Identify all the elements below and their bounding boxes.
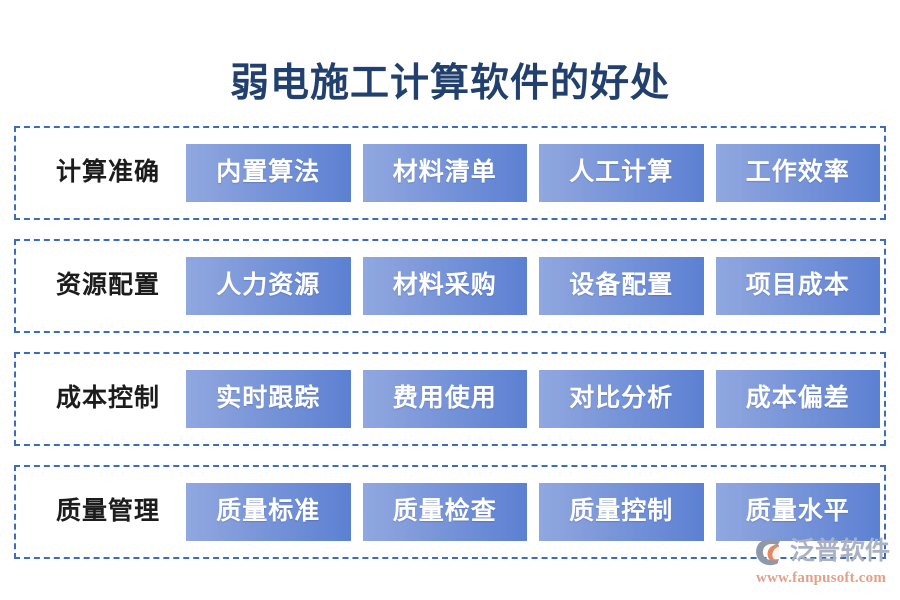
card-2-4[interactable]: 项目成本 — [716, 257, 881, 315]
title-container: 弱电施工计算软件的好处 — [0, 60, 900, 108]
category-rows: 计算准确 内置算法 材料清单 人工计算 工作效率 资源配置 人力资源 材料采购 … — [14, 126, 886, 559]
page-title: 弱电施工计算软件的好处 — [0, 60, 900, 108]
logo-website-url: www.fanpusoft.com — [754, 569, 888, 587]
card-3-4[interactable]: 成本偏差 — [716, 370, 881, 428]
row-label-2: 资源配置 — [30, 271, 186, 301]
row-label-1: 计算准确 — [30, 158, 186, 188]
card-3-1[interactable]: 实时跟踪 — [186, 370, 351, 428]
category-row-1: 计算准确 内置算法 材料清单 人工计算 工作效率 — [14, 126, 886, 220]
row-label-3: 成本控制 — [30, 384, 186, 414]
card-group-1: 内置算法 材料清单 人工计算 工作效率 — [186, 144, 884, 202]
card-1-2[interactable]: 材料清单 — [363, 144, 528, 202]
card-group-2: 人力资源 材料采购 设备配置 项目成本 — [186, 257, 884, 315]
card-3-2[interactable]: 费用使用 — [363, 370, 528, 428]
category-row-2: 资源配置 人力资源 材料采购 设备配置 项目成本 — [14, 239, 886, 333]
logo-company-name: 泛普软件 — [790, 537, 890, 567]
fanpu-circle-logo-icon — [754, 537, 786, 567]
category-row-3: 成本控制 实时跟踪 费用使用 对比分析 成本偏差 — [14, 352, 886, 446]
logo-top-row: 泛普软件 — [754, 536, 888, 568]
card-group-4: 质量标准 质量检查 质量控制 质量水平 — [186, 483, 884, 541]
brand-logo: 泛普软件 www.fanpusoft.com — [754, 536, 888, 588]
row-label-4: 质量管理 — [30, 497, 186, 527]
infographic-page: 弱电施工计算软件的好处 计算准确 内置算法 材料清单 人工计算 工作效率 资源配… — [0, 0, 900, 600]
card-2-2[interactable]: 材料采购 — [363, 257, 528, 315]
card-2-1[interactable]: 人力资源 — [186, 257, 351, 315]
card-group-3: 实时跟踪 费用使用 对比分析 成本偏差 — [186, 370, 884, 428]
card-2-3[interactable]: 设备配置 — [539, 257, 704, 315]
card-4-1[interactable]: 质量标准 — [186, 483, 351, 541]
card-1-3[interactable]: 人工计算 — [539, 144, 704, 202]
card-4-3[interactable]: 质量控制 — [539, 483, 704, 541]
card-4-4[interactable]: 质量水平 — [716, 483, 881, 541]
card-3-3[interactable]: 对比分析 — [539, 370, 704, 428]
card-4-2[interactable]: 质量检查 — [363, 483, 528, 541]
card-1-4[interactable]: 工作效率 — [716, 144, 881, 202]
card-1-1[interactable]: 内置算法 — [186, 144, 351, 202]
